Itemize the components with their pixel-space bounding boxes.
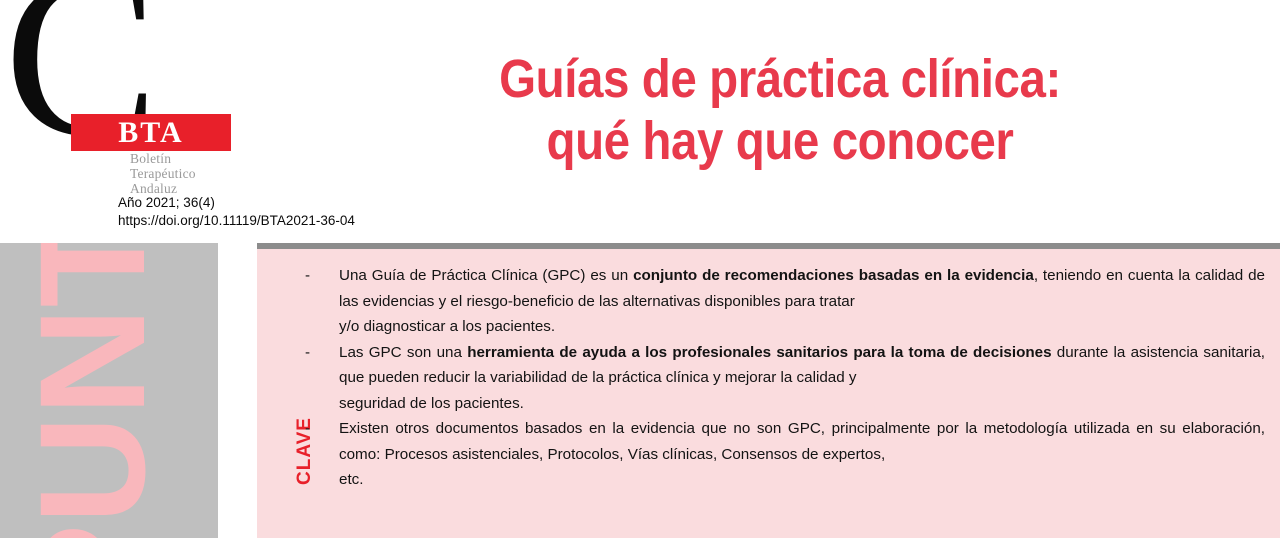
list-item-text: Existen otros documentos basados en la e…: [339, 416, 1265, 493]
sidebar-watermark-script: péutico: [89, 362, 151, 538]
logo-subtitle: Boletín Terapéutico Andaluz: [130, 151, 196, 196]
bullet-2-part-3: seguridad de los pacientes.: [339, 391, 1265, 417]
list-item: - Las GPC son una herramienta de ayuda a…: [305, 340, 1265, 417]
document-header: C BTA Boletín Terapéutico Andaluz Año 20…: [0, 0, 1280, 240]
list-item: - Una Guía de Práctica Clínica (GPC) es …: [305, 263, 1265, 340]
logo-subtitle-line-1: Boletín: [130, 151, 196, 166]
sidebar-watermark-panel: PUNT péutico: [0, 243, 218, 538]
logo-badge-text: BTA: [71, 114, 231, 151]
logo-badge: BTA: [71, 114, 231, 151]
key-points-panel: CLAVE - Una Guía de Práctica Clínica (GP…: [257, 243, 1280, 538]
list-item-text: Una Guía de Práctica Clínica (GPC) es un…: [339, 263, 1265, 340]
bullet-2-part-1: Las GPC son una: [339, 344, 467, 361]
bullet-1-bold-1: conjunto de recomendaciones basadas en l…: [633, 267, 1034, 284]
panel-top-rule: [257, 243, 1280, 249]
bullet-1-part-3: y/o diagnosticar a los pacientes.: [339, 314, 1265, 340]
bullet-marker: -: [305, 263, 339, 289]
publication-reference: Año 2021; 36(4) https://doi.org/10.11119…: [118, 194, 355, 230]
logo-letter-c-icon: C: [12, 18, 126, 188]
key-points-list: - Una Guía de Práctica Clínica (GPC) es …: [305, 263, 1265, 493]
bullet-1-part-1: Una Guía de Práctica Clínica (GPC) es un: [339, 267, 633, 284]
bullet-3-part-1: Existen otros documentos basados en la e…: [339, 420, 1265, 463]
bta-logo: C BTA Boletín Terapéutico Andaluz: [12, 18, 242, 218]
page-title: Guías de práctica clínica: qué hay que c…: [358, 48, 1203, 172]
list-item-text: Las GPC son una herramienta de ayuda a l…: [339, 340, 1265, 417]
page-title-line-1: Guías de práctica clínica:: [358, 48, 1203, 110]
bullet-marker: -: [305, 416, 339, 442]
logo-subtitle-line-2: Terapéutico: [130, 166, 196, 181]
bullet-marker: -: [305, 340, 339, 366]
doi-link[interactable]: https://doi.org/10.11119/BTA2021-36-04: [118, 212, 355, 230]
bullet-2-bold-1: herramienta de ayuda a los profesionales…: [467, 344, 1051, 361]
issue-line: Año 2021; 36(4): [118, 194, 355, 212]
bullet-3-part-3: etc.: [339, 467, 1265, 493]
list-item: - Existen otros documentos basados en la…: [305, 416, 1265, 493]
page-title-line-2: qué hay que conocer: [358, 110, 1203, 172]
